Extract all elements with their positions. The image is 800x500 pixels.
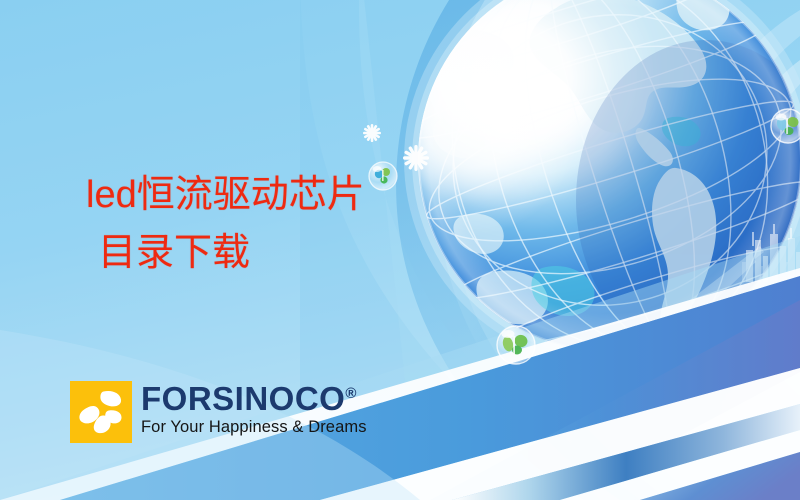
forsinoco-pinwheel-mark-icon: [70, 381, 132, 443]
headline-text: led恒流驱动芯片 目录下载: [86, 166, 365, 282]
brand-name-text: FORSINOCO: [141, 380, 345, 417]
headline-line-1: led恒流驱动芯片: [86, 166, 365, 224]
brand-name: FORSINOCO®: [141, 382, 367, 416]
poster-canvas: led恒流驱动芯片 目录下载 FORSINOCO® For: [0, 0, 800, 500]
bubble-pinwheel-small: [369, 162, 397, 190]
bubble-edge-right: [771, 109, 800, 143]
bubble-green-sprout: [497, 326, 535, 364]
brand-wordmark: FORSINOCO® For Your Happiness & Dreams: [141, 381, 367, 438]
brand-tagline: For Your Happiness & Dreams: [141, 417, 367, 438]
registered-trademark-icon: ®: [345, 385, 357, 402]
brand-logo-lockup[interactable]: FORSINOCO® For Your Happiness & Dreams: [70, 381, 367, 443]
headline-line-2: 目录下载: [86, 224, 365, 282]
